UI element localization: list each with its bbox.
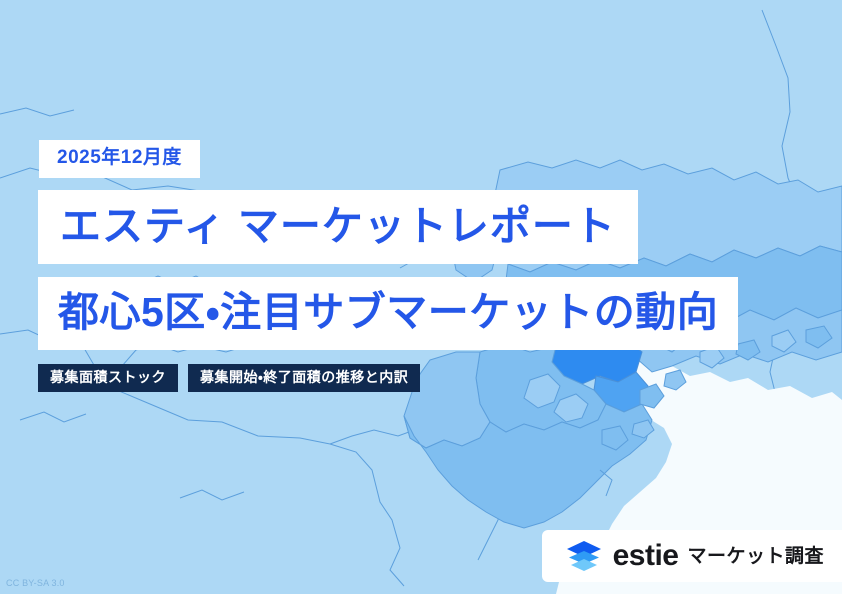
estie-logo-panel: estie マーケット調査 <box>542 530 842 582</box>
date-badge-row: 2025年12月度 <box>0 140 842 178</box>
estie-tagline: マーケット調査 <box>687 547 824 566</box>
subtitle-row: 都心5区・注目サブマーケットの動向 <box>0 277 842 349</box>
topic-tag-1: 募集面積ストック <box>38 364 178 393</box>
cover-slide: .land { fill:#7FBEF0; stroke:#5C9FDC; st… <box>0 0 842 594</box>
estie-wordmark: estie <box>613 541 679 571</box>
date-badge: 2025年12月度 <box>39 140 200 178</box>
page-subtitle: 都心5区・注目サブマーケットの動向 <box>38 277 738 349</box>
title-row: エスティ マーケットレポート <box>0 190 842 264</box>
topic-tag-2: 募集開始・終了面積の推移と内訳 <box>188 364 420 393</box>
topic-tag-list: 募集面積ストック 募集開始・終了面積の推移と内訳 <box>38 364 842 393</box>
estie-layers-icon <box>566 540 602 572</box>
page-title: エスティ マーケットレポート <box>38 190 638 264</box>
cover-text-block: 2025年12月度 エスティ マーケットレポート 都心5区・注目サブマーケットの… <box>0 140 842 392</box>
map-attribution: CC BY-SA 3.0 <box>6 578 65 588</box>
